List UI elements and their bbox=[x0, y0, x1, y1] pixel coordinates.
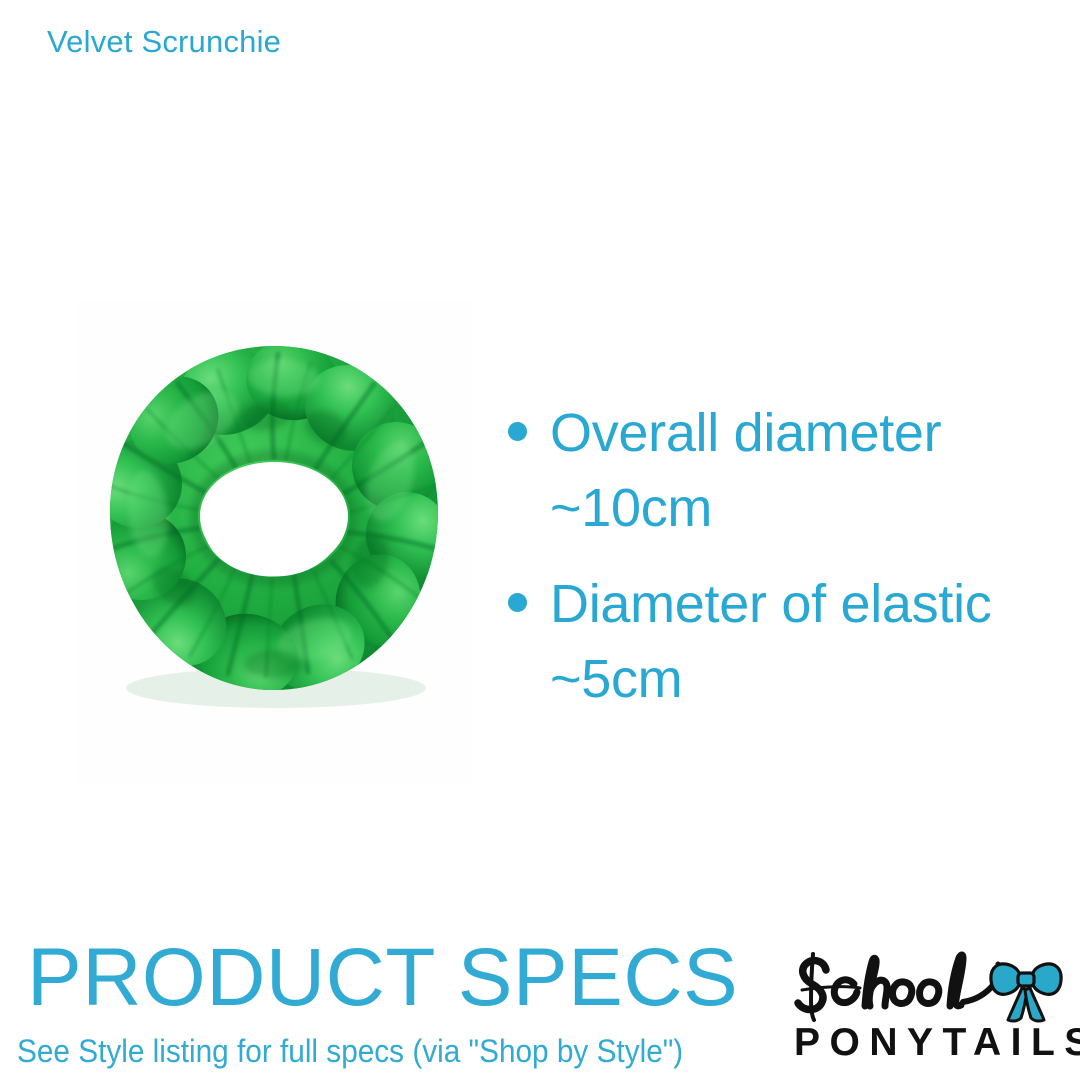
spec-text: Diameter of elastic ~5cm bbox=[550, 567, 1074, 716]
page-title: Velvet Scrunchie bbox=[47, 24, 281, 60]
footer-note: See Style listing for full specs (via "S… bbox=[17, 1034, 683, 1069]
school-script-with-bow bbox=[786, 948, 1074, 1028]
spec-text: Overall diameter ~10cm bbox=[550, 396, 1074, 545]
bow-icon bbox=[991, 964, 1061, 1021]
product-specs-page: Velvet Scrunchie bbox=[0, 0, 1080, 1080]
bullet-icon bbox=[508, 422, 527, 441]
list-item: Overall diameter ~10cm bbox=[508, 396, 1074, 545]
product-photo bbox=[78, 300, 472, 784]
brand-wordmark: PONYTAILS bbox=[794, 1021, 1072, 1065]
spec-list: Overall diameter ~10cm Diameter of elast… bbox=[508, 396, 1074, 738]
brand-logo: PONYTAILS bbox=[786, 948, 1074, 1066]
bullet-icon bbox=[508, 593, 527, 612]
list-item: Diameter of elastic ~5cm bbox=[508, 567, 1074, 716]
footer-headline: PRODUCT SPECS bbox=[27, 937, 738, 1019]
